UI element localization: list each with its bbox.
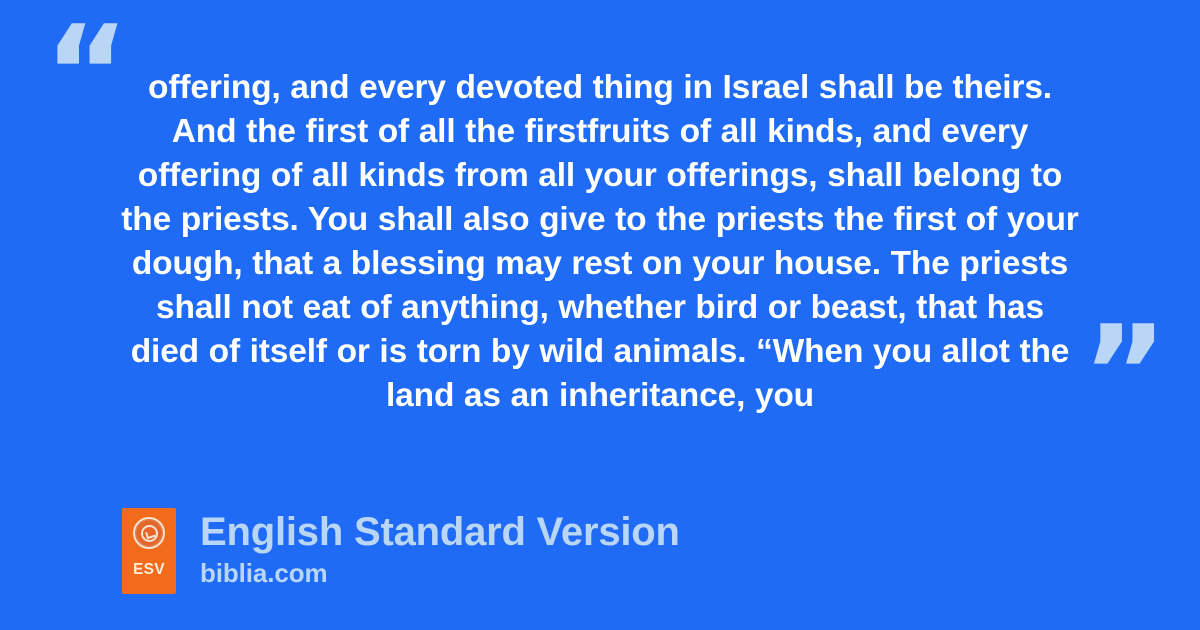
attribution-text: English Standard Version biblia.com xyxy=(200,508,680,588)
esv-crown-seal-icon xyxy=(133,517,165,549)
site-url-label: biblia.com xyxy=(200,558,680,588)
opening-quote-icon: “ xyxy=(44,8,127,138)
bible-version-name: English Standard Version xyxy=(200,508,680,556)
esv-logo-label: ESV xyxy=(133,562,165,578)
seal-monogram-icon xyxy=(141,525,158,542)
verse-share-card: “ offering, and every devoted thing in I… xyxy=(0,0,1200,630)
quote-block: offering, and every devoted thing in Isr… xyxy=(120,66,1080,418)
verse-text: offering, and every devoted thing in Isr… xyxy=(120,66,1080,418)
attribution-footer: ESV English Standard Version biblia.com xyxy=(122,508,680,594)
closing-quote-icon: ” xyxy=(1082,308,1165,438)
esv-logo: ESV xyxy=(122,508,176,594)
